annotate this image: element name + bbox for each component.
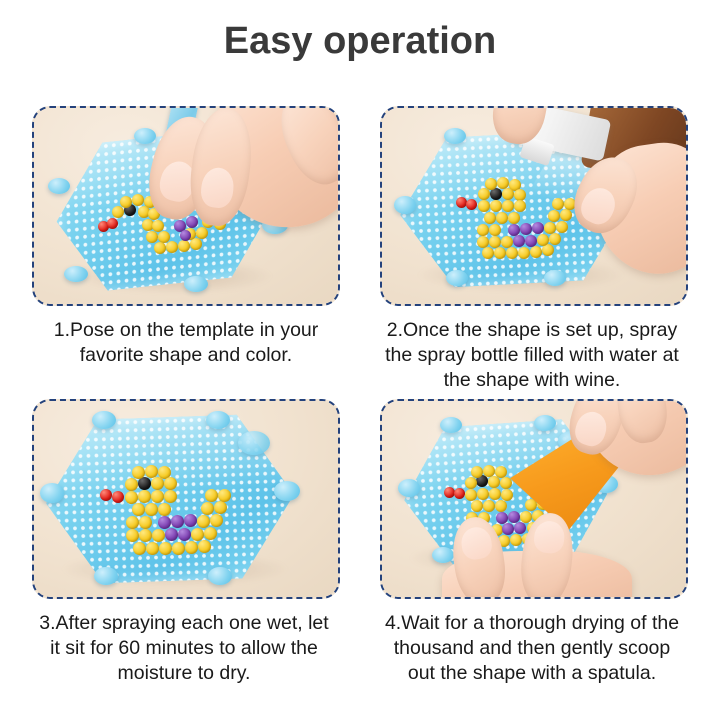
bead-yellow — [166, 241, 178, 253]
bead-yellow — [520, 511, 532, 523]
bead-yellow — [139, 516, 152, 529]
bead-yellow — [556, 221, 568, 233]
board-knob — [206, 411, 230, 429]
step-1-caption: 1.Pose on the template in your favorite … — [32, 318, 340, 368]
bead-yellow — [510, 534, 522, 546]
fingernail — [533, 520, 566, 555]
bead-purple-wing — [520, 223, 532, 235]
bead-yellow — [495, 500, 507, 512]
board-knob — [40, 483, 64, 503]
board-knob — [92, 411, 116, 429]
bead-yellow — [164, 490, 177, 503]
bead-yellow — [506, 247, 518, 259]
bead-yellow — [133, 542, 146, 555]
step-2-caption: 2.Once the shape is set up, spray the sp… — [380, 318, 684, 393]
bead-yellow — [154, 242, 166, 254]
board-knob — [64, 266, 88, 282]
bead-yellow — [172, 542, 185, 555]
bead-yellow — [465, 477, 477, 489]
bead-purple-wing — [502, 523, 514, 535]
fingernail — [459, 525, 493, 561]
bead-purple-wing — [171, 515, 184, 528]
bead-yellow — [201, 502, 214, 515]
step-1: 1.Pose on the template in your favorite … — [32, 106, 340, 393]
bead-purple-wing — [513, 235, 525, 247]
bead-yellow — [138, 490, 151, 503]
board-knob — [184, 276, 208, 292]
bead-purple-wing — [186, 216, 198, 228]
bead-yellow — [126, 529, 139, 542]
bead-yellow — [537, 234, 549, 246]
bead-yellow — [120, 196, 132, 208]
bead-yellow — [191, 528, 204, 541]
bead-yellow — [518, 247, 530, 259]
bead-yellow — [544, 222, 556, 234]
bead-yellow — [502, 200, 514, 212]
bead-yellow — [210, 514, 223, 527]
bead-yellow — [126, 516, 139, 529]
step-1-photo — [32, 106, 340, 306]
bead-yellow — [197, 515, 210, 528]
bead-yellow — [482, 247, 494, 259]
bead-yellow — [112, 206, 124, 218]
board-knob — [440, 417, 462, 433]
bead-yellow — [502, 188, 514, 200]
bead-yellow — [530, 246, 542, 258]
bead-yellow — [146, 542, 159, 555]
bead-yellow — [151, 490, 164, 503]
bead-yellow — [494, 247, 506, 259]
step-4-caption: 4.Wait for a thorough drying of the thou… — [380, 611, 684, 686]
bead-purple-wing — [165, 528, 178, 541]
bead-black-eye — [138, 477, 151, 490]
board-knob — [208, 567, 232, 585]
bead-yellow — [145, 503, 158, 516]
bead-yellow — [485, 178, 497, 190]
bead-red-beak — [100, 489, 112, 501]
board-knob — [238, 431, 270, 455]
bead-yellow — [483, 500, 495, 512]
step-3-caption: 3.After spraying each one wet, let it si… — [32, 611, 336, 686]
bead-purple-wing — [158, 516, 171, 529]
bead-yellow — [471, 500, 483, 512]
step-3: 3.After spraying each one wet, let it si… — [32, 399, 340, 686]
board-knob — [134, 128, 156, 144]
page-title: Easy operation — [0, 18, 720, 64]
board-knob — [444, 128, 466, 144]
bead-yellow — [132, 503, 145, 516]
bead-yellow — [190, 238, 202, 250]
bead-yellow — [159, 542, 172, 555]
bead-yellow — [204, 527, 217, 540]
fingernail — [576, 183, 621, 229]
bead-yellow — [125, 478, 138, 491]
step-3-photo — [32, 399, 340, 599]
bead-yellow — [214, 501, 227, 514]
step-4-photo — [380, 399, 688, 599]
board-knob — [94, 567, 118, 585]
bead-yellow — [477, 224, 489, 236]
bead-yellow — [139, 529, 152, 542]
bead-yellow — [164, 477, 177, 490]
bead-purple-wing — [178, 528, 191, 541]
step-2-photo — [380, 106, 688, 306]
bead-yellow — [178, 240, 190, 252]
board-knob — [534, 415, 556, 431]
fingernail — [572, 408, 611, 450]
board-knob — [398, 479, 420, 497]
bead-purple-wing — [184, 514, 197, 527]
bead-yellow — [132, 194, 144, 206]
instruction-infographic: Easy operation — [0, 0, 720, 720]
board-knob — [394, 196, 416, 214]
step-2: 2.Once the shape is set up, spray the sp… — [380, 106, 688, 393]
bead-purple-wing — [180, 230, 191, 241]
bead-yellow — [477, 488, 489, 500]
bead-yellow — [218, 489, 231, 502]
bead-yellow — [205, 489, 218, 502]
bead-yellow — [146, 231, 158, 243]
bead-yellow — [478, 188, 490, 200]
bead-red-beak — [112, 491, 124, 503]
board-knob — [48, 178, 70, 194]
bead-purple-wing — [514, 522, 526, 534]
bead-yellow — [196, 227, 208, 239]
bead-yellow — [490, 200, 502, 212]
bead-yellow — [484, 212, 496, 224]
step-4: 4.Wait for a thorough drying of the thou… — [380, 399, 688, 686]
board-knob — [274, 481, 300, 501]
bead-yellow — [501, 236, 513, 248]
bead-yellow — [489, 488, 501, 500]
bead-yellow — [549, 233, 561, 245]
bead-yellow — [198, 540, 211, 553]
bead-red-beak — [107, 218, 118, 229]
bead-purple-wing — [525, 235, 537, 247]
bead-yellow — [471, 466, 483, 478]
bead-purple-wing — [532, 222, 544, 234]
fingernail — [199, 166, 236, 210]
bead-yellow — [489, 224, 501, 236]
bead-yellow — [501, 489, 513, 501]
bead-yellow — [151, 477, 164, 490]
bead-yellow — [158, 503, 171, 516]
steps-grid: 1.Pose on the template in your favorite … — [32, 106, 688, 686]
bead-yellow — [152, 529, 165, 542]
bead-yellow — [488, 476, 500, 488]
board-knob — [544, 270, 566, 286]
bead-red-beak — [454, 488, 465, 499]
bead-red-beak — [466, 199, 477, 210]
bead-yellow — [185, 541, 198, 554]
bead-yellow — [478, 200, 490, 212]
bead-yellow — [125, 491, 138, 504]
board-knob — [446, 270, 468, 286]
board-knob — [432, 547, 454, 563]
bead-yellow — [500, 477, 512, 489]
bead-yellow — [496, 212, 508, 224]
bead-yellow — [132, 466, 145, 479]
